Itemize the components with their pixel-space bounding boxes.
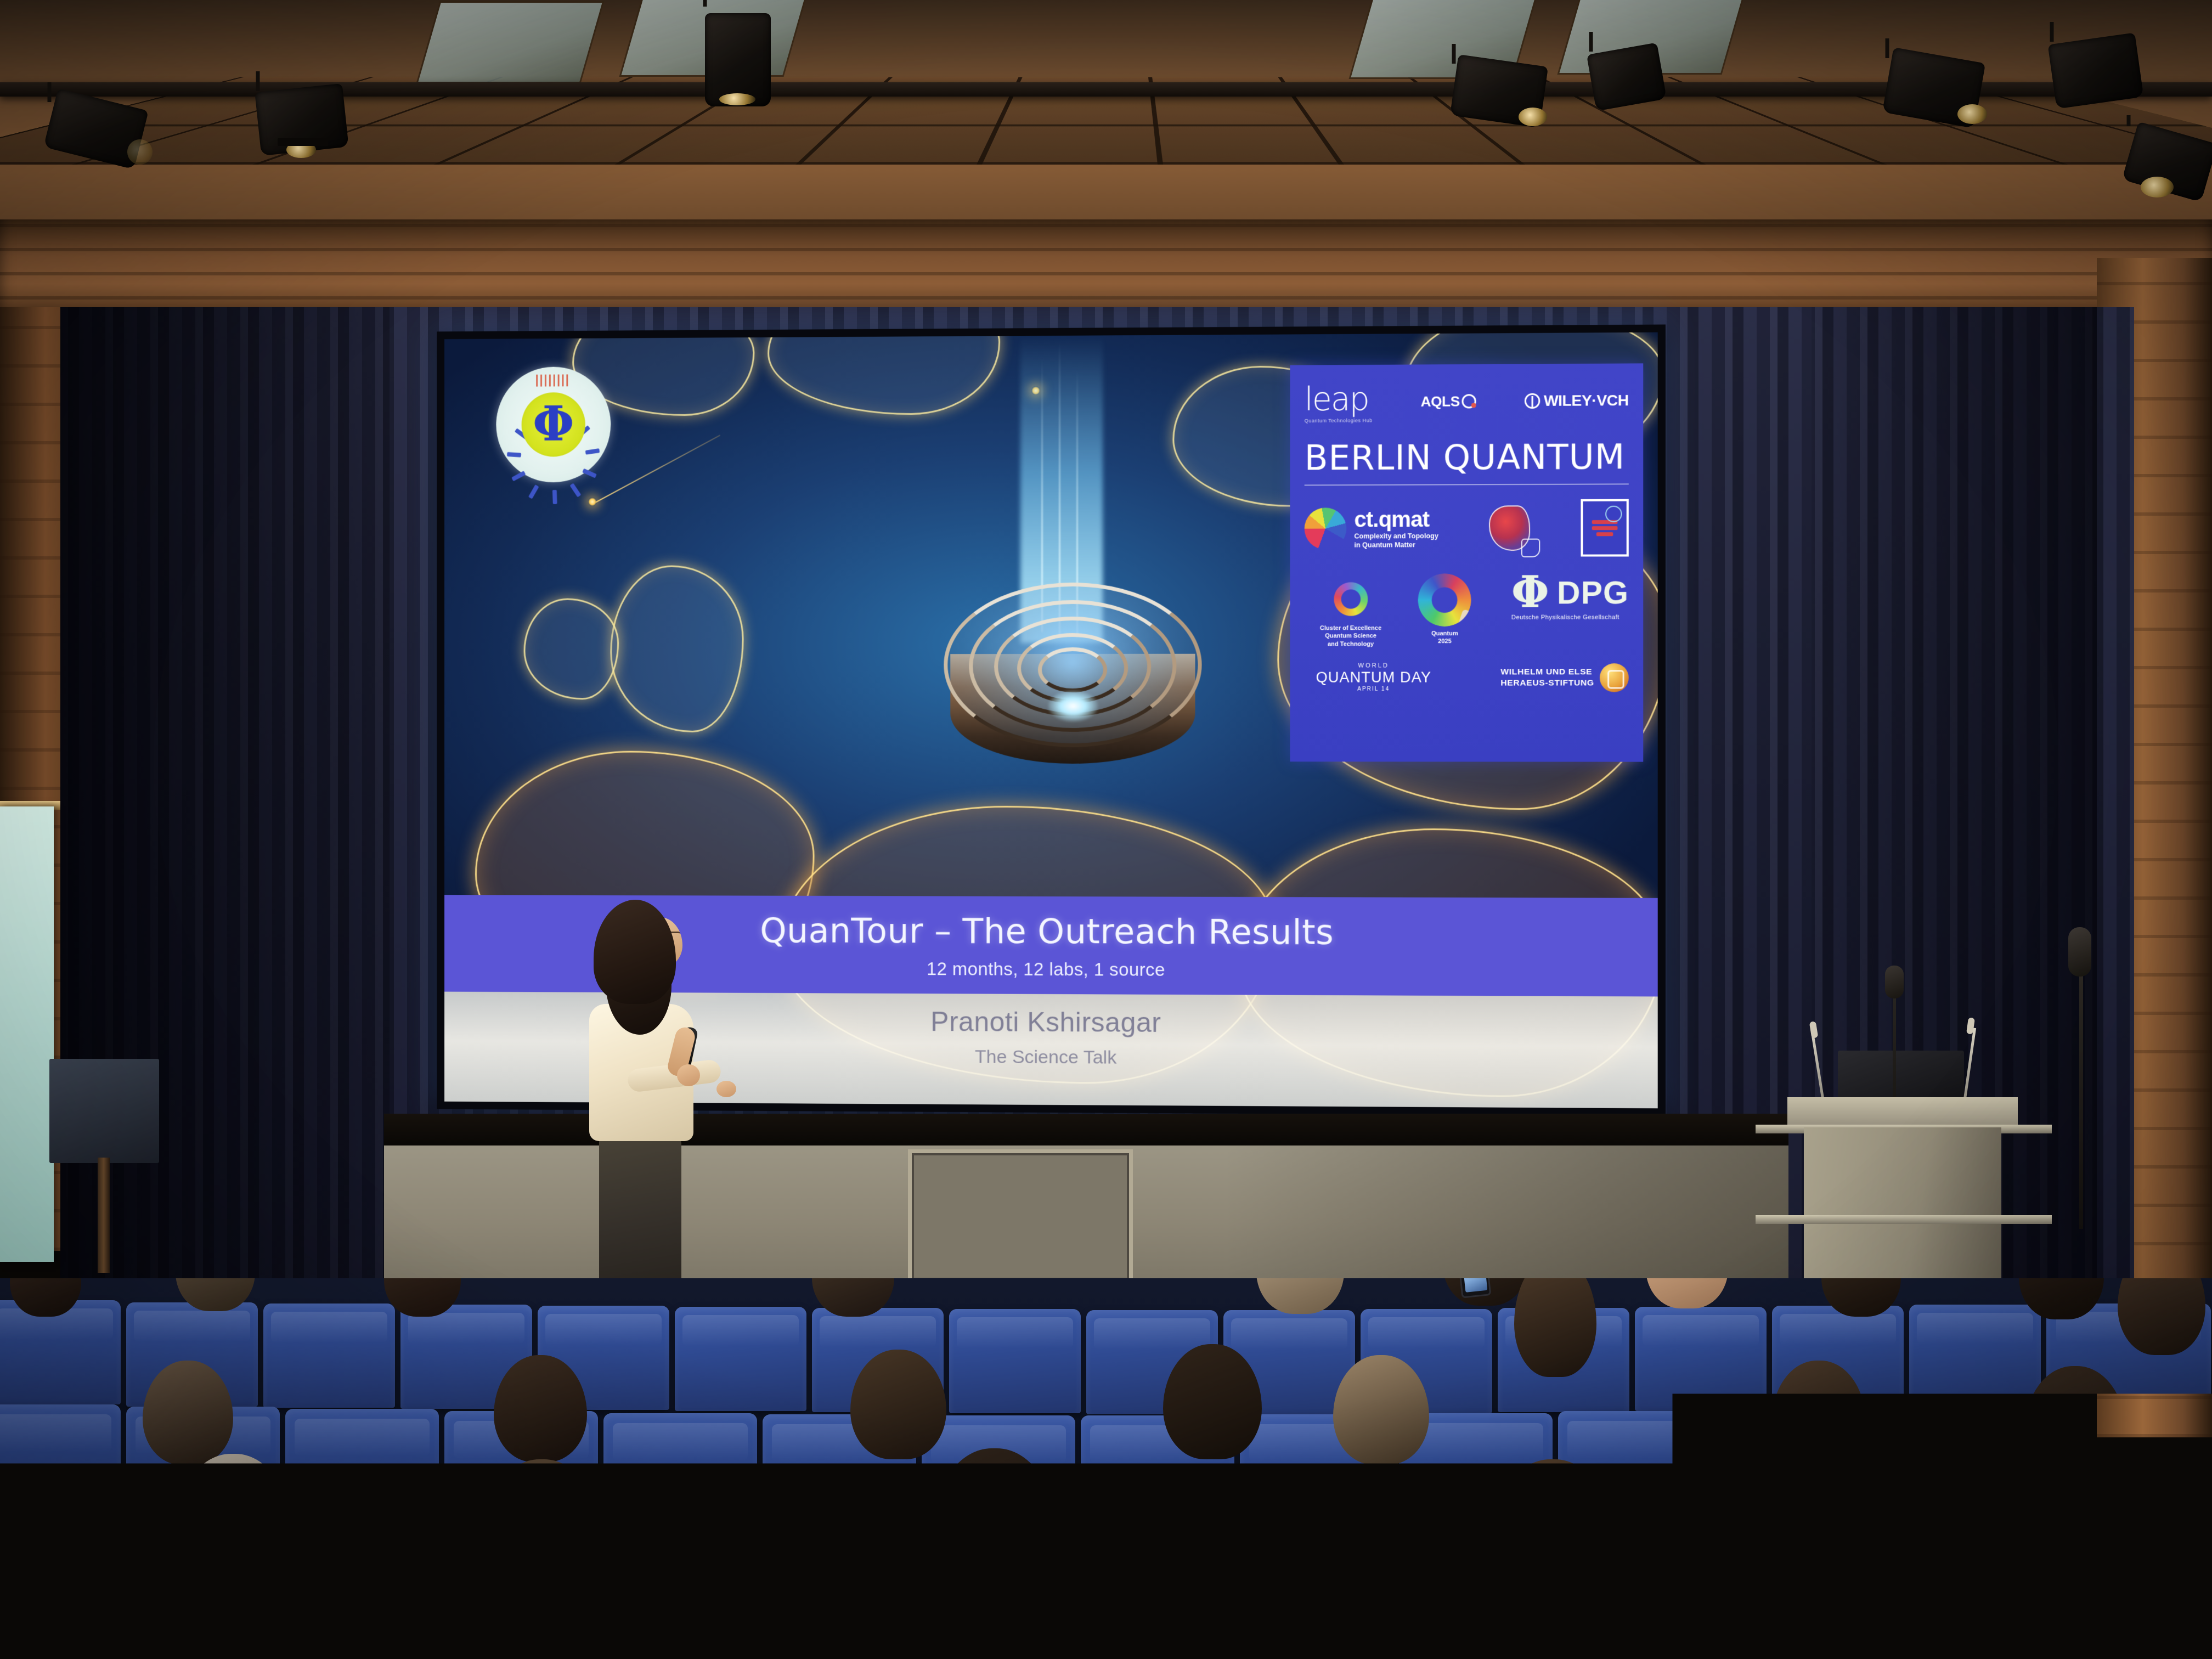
sponsor-logo-row-2: Cluster of Excellence Quantum Science an… bbox=[1305, 573, 1629, 648]
map-landmass bbox=[526, 600, 618, 698]
map-landmass bbox=[612, 567, 742, 731]
microphone-icon bbox=[2068, 927, 2091, 977]
audience-head bbox=[483, 1459, 601, 1602]
dpg-logo: Φ DPG Deutsche Physikalische Gesellschaf… bbox=[1511, 573, 1629, 621]
microphone-stand bbox=[2079, 955, 2083, 1229]
audience-head bbox=[1333, 1355, 1429, 1465]
badge-figure bbox=[582, 469, 597, 478]
stage-access-panel bbox=[908, 1149, 1133, 1284]
map-landmass bbox=[769, 332, 998, 414]
waveform-icon bbox=[536, 374, 571, 386]
audience-head bbox=[1514, 1278, 1596, 1377]
presenter-hair bbox=[594, 900, 676, 1004]
badge-figure bbox=[585, 448, 600, 455]
speaker-stand bbox=[98, 1158, 110, 1273]
seat bbox=[1635, 1307, 1767, 1411]
presenter-hand bbox=[716, 1081, 736, 1097]
red-map-badge-icon bbox=[1489, 505, 1530, 551]
audience-seating-area bbox=[0, 1278, 2212, 1659]
ct-qmat-logo: ct.qmat Complexity and Topology in Quant… bbox=[1305, 507, 1438, 550]
knot-icon bbox=[1325, 574, 1376, 625]
auditorium-scene: Φ leap Quantum Technologies Hub AQLS bbox=[0, 0, 2212, 1659]
sponsor-panel-heading: BERLIN QUANTUM bbox=[1305, 437, 1629, 478]
badge-figure bbox=[570, 483, 582, 498]
seat bbox=[702, 1534, 883, 1659]
seat bbox=[181, 1634, 411, 1659]
badge-figure bbox=[511, 471, 526, 481]
presenter-hand bbox=[677, 1064, 700, 1086]
sponsor-top-logo-row: leap Quantum Technologies Hub AQLS WILEY… bbox=[1305, 379, 1629, 424]
leap-logo: leap Quantum Technologies Hub bbox=[1305, 380, 1373, 424]
phone-screen bbox=[1462, 1278, 1488, 1293]
sponsor-panel: leap Quantum Technologies Hub AQLS WILEY… bbox=[1290, 363, 1643, 761]
slide-title: QuanTour – The Outreach Results bbox=[760, 910, 1334, 952]
framed-badge-icon bbox=[1581, 499, 1628, 557]
globe-icon bbox=[1605, 506, 1622, 522]
audience-head bbox=[1256, 1278, 1344, 1314]
seat bbox=[0, 1629, 176, 1659]
audience-head bbox=[1163, 1344, 1262, 1459]
heraeus-coin-icon bbox=[1600, 663, 1629, 692]
skylight-panel bbox=[416, 1, 604, 83]
presenter-figure bbox=[575, 900, 751, 1339]
seat bbox=[603, 1413, 757, 1539]
audience-head bbox=[1964, 1470, 2082, 1610]
seat bbox=[0, 1404, 121, 1531]
lectern-shelf bbox=[1756, 1215, 2052, 1224]
quantum-ripple-disc bbox=[944, 582, 1201, 780]
rollup-banner bbox=[0, 806, 54, 1262]
sponsor-logo-row-1: ct.qmat Complexity and Topology in Quant… bbox=[1305, 499, 1629, 557]
seat bbox=[1585, 1629, 1816, 1659]
seat bbox=[1344, 1634, 1575, 1659]
quantum-2025-logo: Quantum 2025 bbox=[1409, 573, 1480, 646]
audience-head bbox=[2024, 1366, 2126, 1484]
audience-head bbox=[1492, 1459, 1613, 1605]
seat bbox=[949, 1309, 1081, 1413]
phi-glyph-icon: Φ bbox=[533, 399, 574, 448]
curtain-shadow-left bbox=[60, 307, 390, 1322]
disc-ring bbox=[1038, 647, 1107, 692]
microphone-icon bbox=[1885, 966, 1904, 998]
sponsor-divider bbox=[1305, 483, 1629, 486]
badge-figure bbox=[528, 484, 539, 499]
qmat-pie-icon bbox=[1305, 507, 1347, 550]
aqls-ring-icon bbox=[1462, 394, 1476, 408]
lectern-laptop bbox=[1838, 1051, 1964, 1103]
quantum-science-technology-logo: Cluster of Excellence Quantum Science an… bbox=[1305, 574, 1397, 648]
audience-head bbox=[143, 1361, 233, 1465]
badge-inner-circle: Φ bbox=[522, 392, 585, 457]
seat bbox=[675, 1307, 806, 1411]
audience-head bbox=[1772, 1361, 1865, 1468]
phi-badge-logo: Φ bbox=[496, 366, 611, 482]
seat bbox=[263, 1304, 395, 1408]
badge-figure bbox=[552, 490, 557, 504]
audience-head bbox=[1158, 1465, 1276, 1605]
heraeus-stiftung-logo: WILHELM UND ELSE HERAEUS-STIFTUNG bbox=[1500, 663, 1629, 692]
seat bbox=[1909, 1305, 2041, 1409]
seat bbox=[285, 1409, 439, 1535]
seat bbox=[0, 1300, 121, 1404]
sponsor-logo-row-3: WORLD QUANTUM DAY APRIL 14 WILHELM UND E… bbox=[1305, 662, 1629, 692]
attendee-phone[interactable] bbox=[1457, 1278, 1492, 1299]
badge-figure bbox=[507, 452, 521, 458]
world-quantum-day-logo: WORLD QUANTUM DAY APRIL 14 bbox=[1305, 662, 1443, 692]
dpg-phi-icon: Φ bbox=[1511, 573, 1549, 612]
audience-head bbox=[176, 1454, 291, 1591]
network-link bbox=[595, 435, 720, 503]
network-node bbox=[588, 498, 597, 506]
audience-head bbox=[850, 1350, 946, 1459]
audience-head bbox=[933, 1448, 1056, 1596]
aqls-logo: AQLS bbox=[1421, 393, 1476, 410]
q-ring-icon bbox=[1418, 573, 1471, 627]
side-loudspeaker bbox=[49, 1059, 159, 1163]
audience-head bbox=[2118, 1278, 2205, 1355]
audience-head bbox=[494, 1355, 587, 1462]
disc-core-glow bbox=[1048, 690, 1098, 722]
wiley-mark-icon bbox=[1525, 393, 1540, 409]
audience-head bbox=[1646, 1278, 1728, 1308]
slide-subtitle: 12 months, 12 labs, 1 source bbox=[927, 958, 1165, 980]
wiley-vch-logo: WILEY·VCH bbox=[1525, 392, 1628, 410]
